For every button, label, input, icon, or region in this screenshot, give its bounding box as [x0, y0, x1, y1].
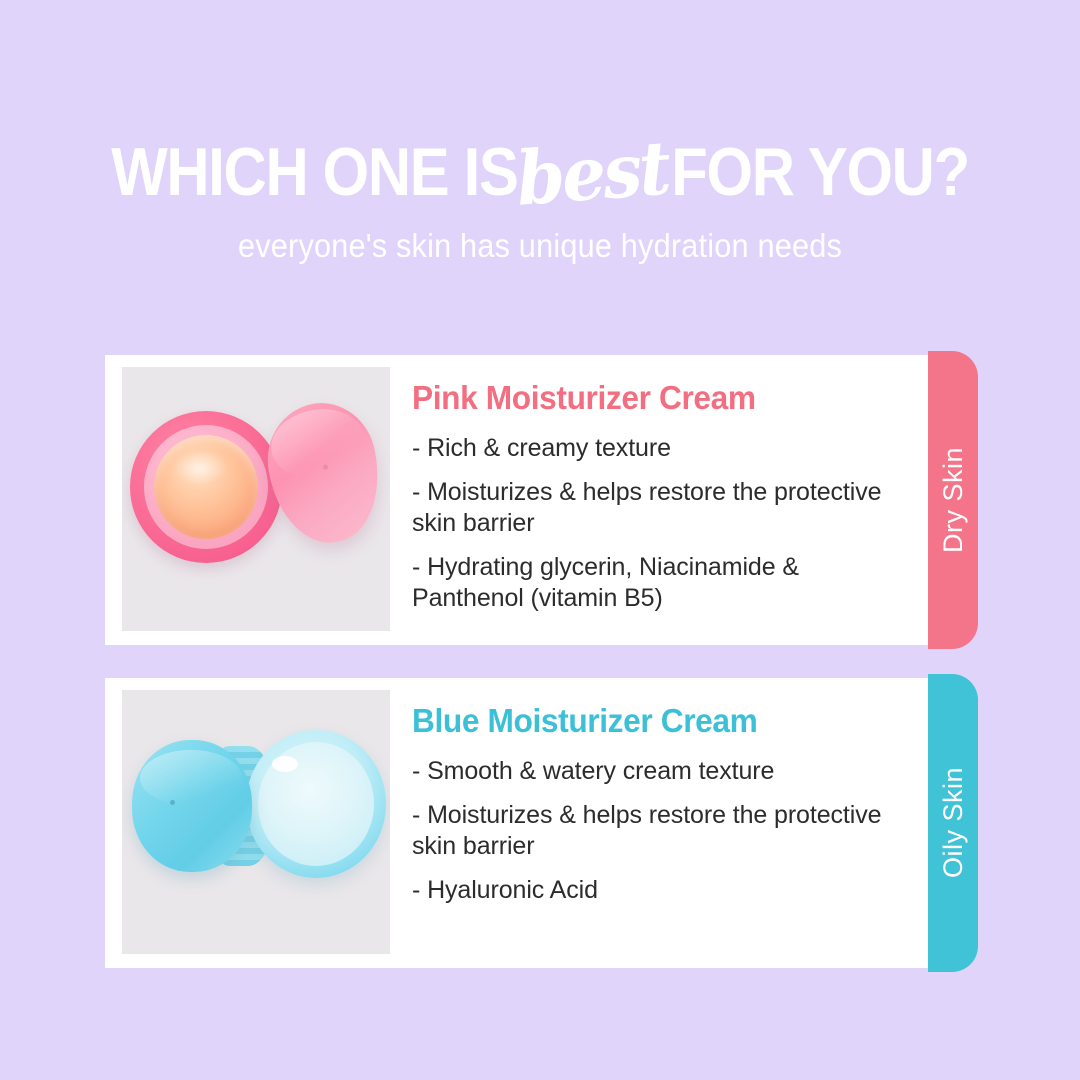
- blue-skin-type-tab[interactable]: Oily Skin: [928, 674, 978, 972]
- list-item: - Rich & creamy texture: [412, 433, 904, 464]
- list-item: - Moisturizes & helps restore the protec…: [412, 477, 904, 539]
- pink-card-title: Pink Moisturizer Cream: [412, 379, 884, 417]
- headline-script-word: best: [514, 131, 670, 218]
- pink-jar-illustration: [122, 367, 390, 631]
- product-card-blue-moisturizer[interactable]: Blue Moisturizer Cream - Smooth & watery…: [105, 678, 930, 968]
- page-subtitle: everyone's skin has unique hydration nee…: [38, 226, 1042, 266]
- headline-part-two: FOR YOU?: [671, 134, 969, 210]
- list-item: - Smooth & watery cream texture: [412, 756, 904, 787]
- product-card-pink-moisturizer[interactable]: Pink Moisturizer Cream - Rich & creamy t…: [105, 355, 930, 645]
- pink-cream-icon: [154, 435, 258, 539]
- blue-jar-lid-dot-icon: [170, 800, 175, 805]
- blue-jar-illustration: [122, 690, 390, 954]
- pink-jar-lid-icon: [259, 395, 390, 552]
- headline-part-one: WHICH ONE IS: [111, 134, 517, 210]
- list-item: - Moisturizes & helps restore the protec…: [412, 800, 904, 862]
- pink-card-text: Pink Moisturizer Cream - Rich & creamy t…: [390, 355, 930, 614]
- product-card-list: Pink Moisturizer Cream - Rich & creamy t…: [105, 355, 980, 968]
- pink-jar-photo: [122, 367, 390, 631]
- blue-card-text: Blue Moisturizer Cream - Smooth & watery…: [390, 678, 930, 906]
- list-item: - Hyaluronic Acid: [412, 875, 904, 906]
- status-badge: Dry Skin: [938, 447, 969, 553]
- header: WHICH ONE ISbestFOR YOU? everyone's skin…: [0, 132, 1080, 266]
- blue-jar-photo: [122, 690, 390, 954]
- list-item: - Hydrating glycerin, Niacinamide & Pant…: [412, 552, 904, 614]
- blue-gel-icon: [258, 742, 374, 866]
- pink-skin-type-tab[interactable]: Dry Skin: [928, 351, 978, 649]
- blue-jar-lid-icon: [132, 740, 252, 872]
- status-badge: Oily Skin: [938, 767, 969, 878]
- page-title: WHICH ONE ISbestFOR YOU?: [65, 132, 1015, 210]
- blue-card-title: Blue Moisturizer Cream: [412, 702, 884, 740]
